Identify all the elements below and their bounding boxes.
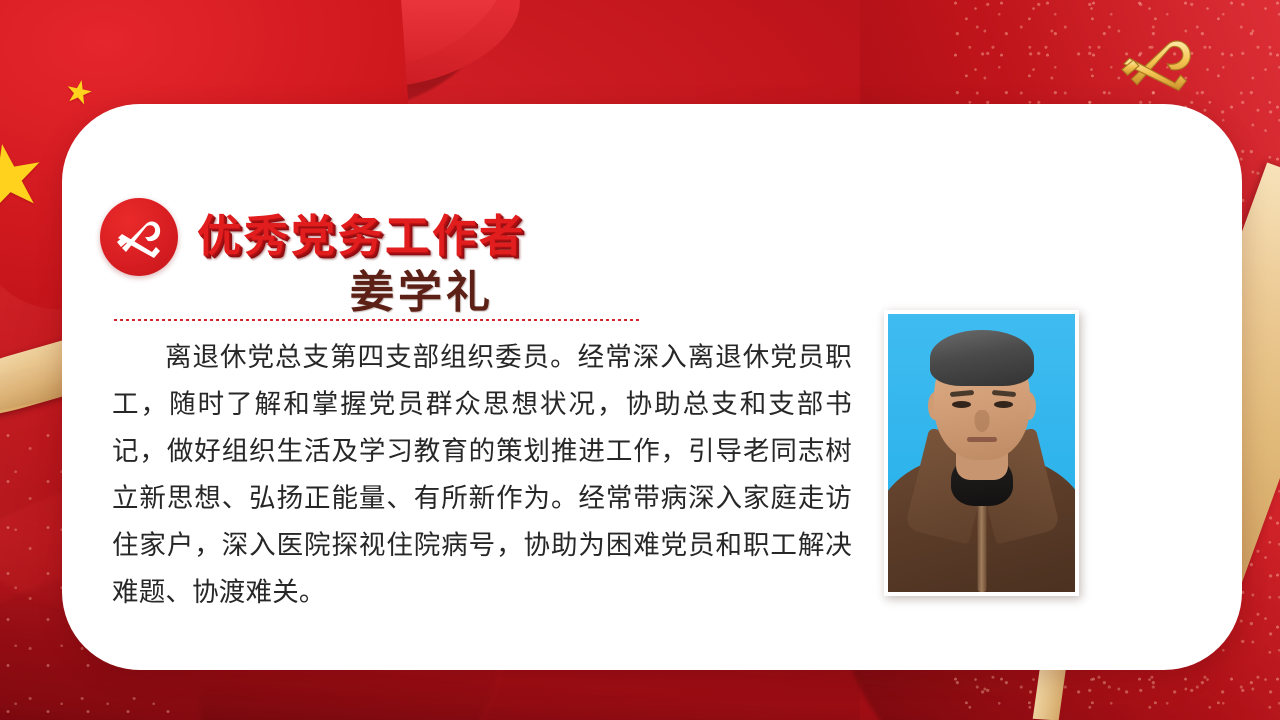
slide-root: ★ ★ ★ ★ ★ [0,0,1280,720]
portrait-eye-left [952,401,971,408]
portrait-eye-right [994,401,1013,408]
portrait-nose [974,410,989,432]
page-title: 优秀党务工作者 [197,200,526,264]
portrait-photo [888,314,1075,592]
portrait-jacket-zipper [977,498,986,592]
portrait-hair [930,330,1034,386]
flag-star-small-1: ★ [62,73,97,110]
content-card: 优秀党务工作者 姜学礼 离退休党总支第四支部组织委员。经常深入离退休党员职工，随… [62,104,1242,670]
description-text: 离退休党总支第四支部组织委员。经常深入离退休党员职工，随时了解和掌握党员群众思想… [112,334,852,616]
flag-star-large: ★ [0,127,54,227]
portrait-mouth [967,437,997,442]
description-paragraph: 离退休党总支第四支部组织委员。经常深入离退休党员职工，随时了解和掌握党员群众思想… [112,334,852,616]
honoree-name: 姜学礼 [350,256,494,320]
ccp-hammer-sickle-emblem-icon [1108,26,1204,98]
hammer-sickle-icon [100,198,178,276]
dotted-divider [114,319,642,321]
portrait-photo-frame [884,310,1079,596]
